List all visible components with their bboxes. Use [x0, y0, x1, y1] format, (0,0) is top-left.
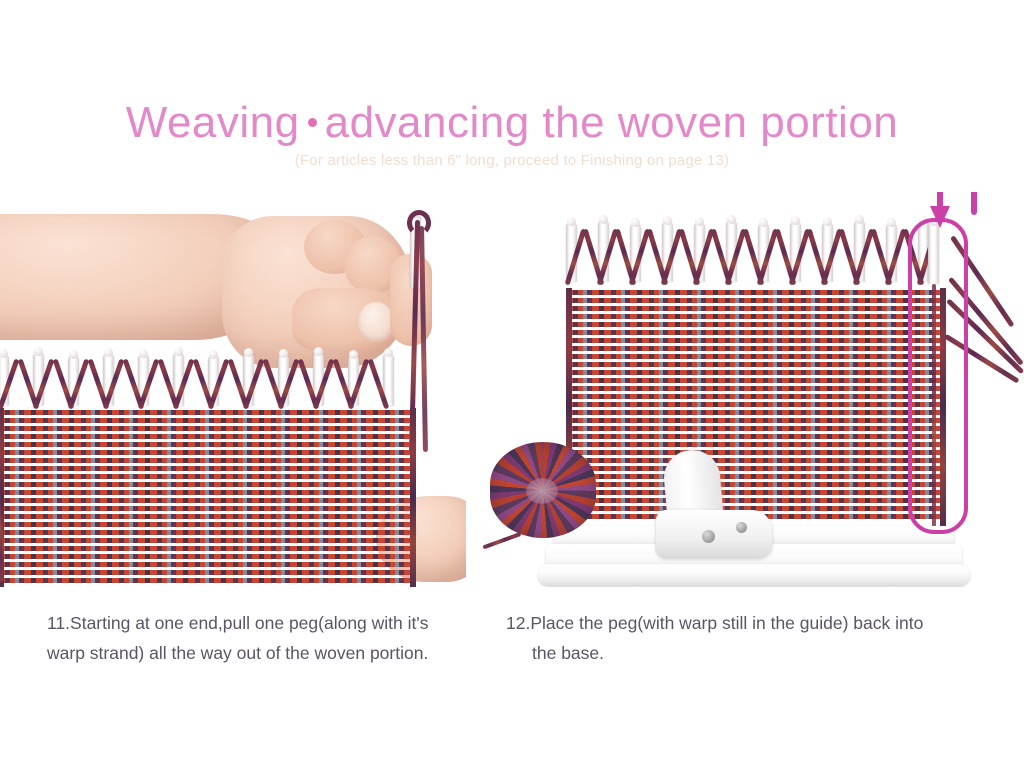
peg-row: [0, 344, 462, 404]
caption-12-line2: the base.: [506, 638, 976, 668]
caption-step-12: 12.Place the peg(with warp still in the …: [506, 608, 976, 668]
annotation-arrow-icon: [892, 192, 988, 228]
thumbnail: [358, 302, 394, 342]
instruction-page: Weavingadvancing the woven portion (For …: [0, 0, 1024, 768]
clamp-screw-1: [702, 530, 715, 543]
caption-11-line2: warp strand) all the way out of the wove…: [47, 638, 487, 668]
title-part1: Weaving: [126, 98, 300, 147]
caption-12-line1: 12.Place the peg(with warp still in the …: [506, 613, 923, 633]
loom-base-foot: [538, 564, 970, 586]
clamp-screw-2: [736, 522, 747, 533]
figure-12-photo: [480, 192, 1024, 587]
figure-11-photo: [0, 192, 466, 587]
yarn-ball-center: [526, 478, 558, 504]
caption-step-11: 11.Starting at one end,pull one peg(alon…: [47, 608, 487, 668]
title-separator-dot: [308, 118, 317, 127]
annotation-rect: [908, 218, 968, 534]
caption-11-line1: 11.Starting at one end,pull one peg(alon…: [47, 613, 428, 633]
warp-loop-top: [407, 210, 431, 236]
title-part2: advancing the woven portion: [325, 98, 899, 147]
woven-cloth: [0, 408, 416, 587]
page-title: Weavingadvancing the woven portion: [0, 98, 1024, 148]
page-subtitle: (For articles less than 6" long, proceed…: [0, 152, 1024, 169]
woven-cloth: [566, 288, 946, 526]
